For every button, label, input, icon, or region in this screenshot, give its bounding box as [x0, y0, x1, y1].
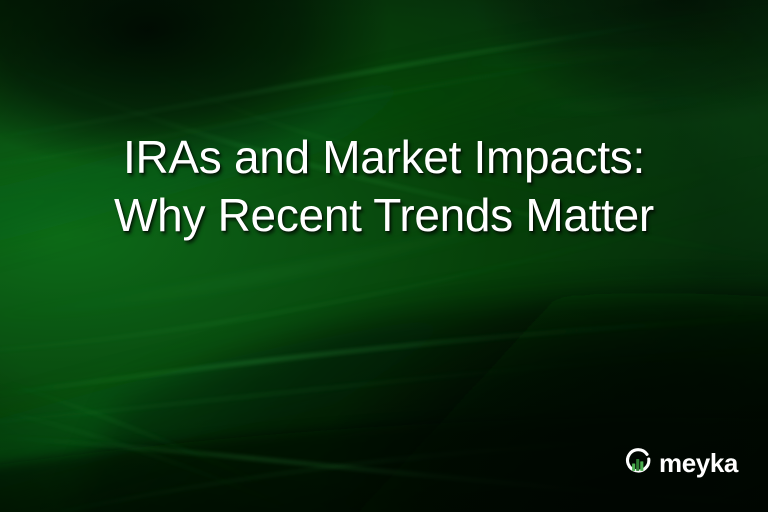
- slide-title: IRAs and Market Impacts: Why Recent Tren…: [0, 128, 768, 244]
- title-line-1: IRAs and Market Impacts:: [40, 128, 728, 186]
- meyka-wordmark: meyka: [659, 450, 738, 476]
- title-line-2: Why Recent Trends Matter: [40, 186, 728, 244]
- meyka-logo: meyka: [623, 446, 738, 478]
- vignette-overlay: [0, 0, 768, 512]
- meyka-circle-bars-icon: [623, 447, 654, 478]
- slide-canvas: IRAs and Market Impacts: Why Recent Tren…: [0, 0, 768, 512]
